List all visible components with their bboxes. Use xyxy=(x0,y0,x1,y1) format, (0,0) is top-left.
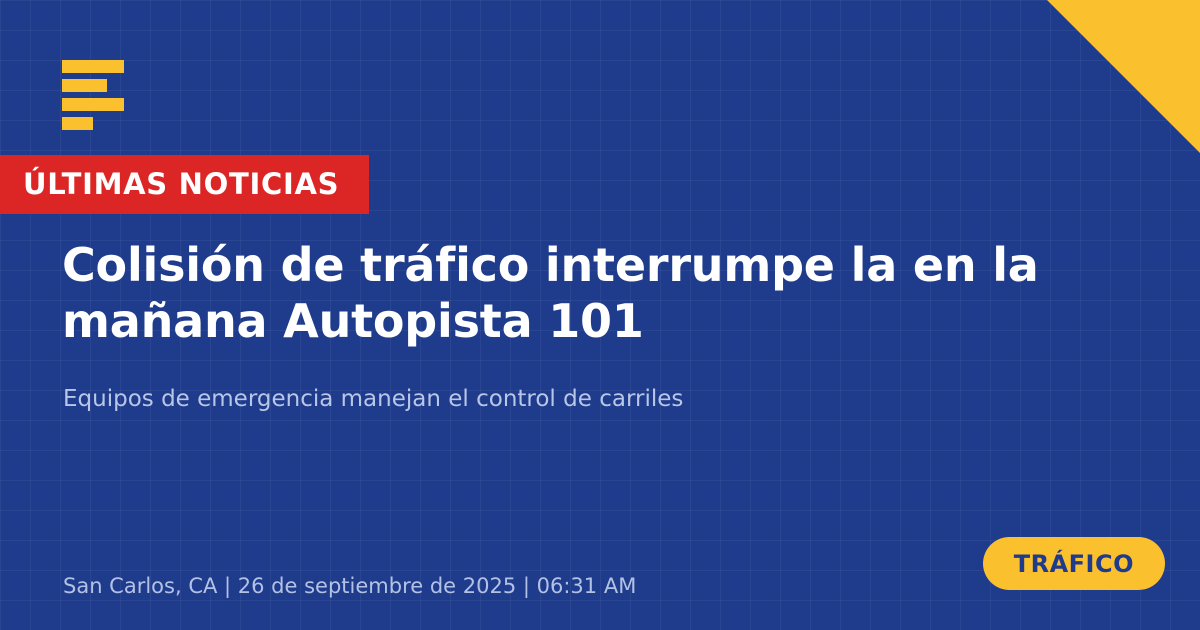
category-badge: TRÁFICO xyxy=(983,537,1165,590)
logo-bar-4 xyxy=(62,117,93,130)
category-badge-label: TRÁFICO xyxy=(1014,552,1134,576)
breaking-news-banner: ÚLTIMAS NOTICIAS xyxy=(0,155,369,214)
meta-line: San Carlos, CA | 26 de septiembre de 202… xyxy=(63,574,636,599)
subtitle: Equipos de emergencia manejan el control… xyxy=(63,384,1063,415)
logo-bar-2 xyxy=(62,79,107,92)
logo-bar-3 xyxy=(62,98,124,111)
breaking-news-label: ÚLTIMAS NOTICIAS xyxy=(23,170,339,199)
brand-bars-logo xyxy=(62,60,124,130)
logo-bar-1 xyxy=(62,60,124,73)
corner-wedge-decoration xyxy=(1047,0,1200,153)
headline: Colisión de tráfico interrumpe la en la … xyxy=(62,237,1152,349)
news-card: ÚLTIMAS NOTICIAS Colisión de tráfico int… xyxy=(0,0,1200,630)
